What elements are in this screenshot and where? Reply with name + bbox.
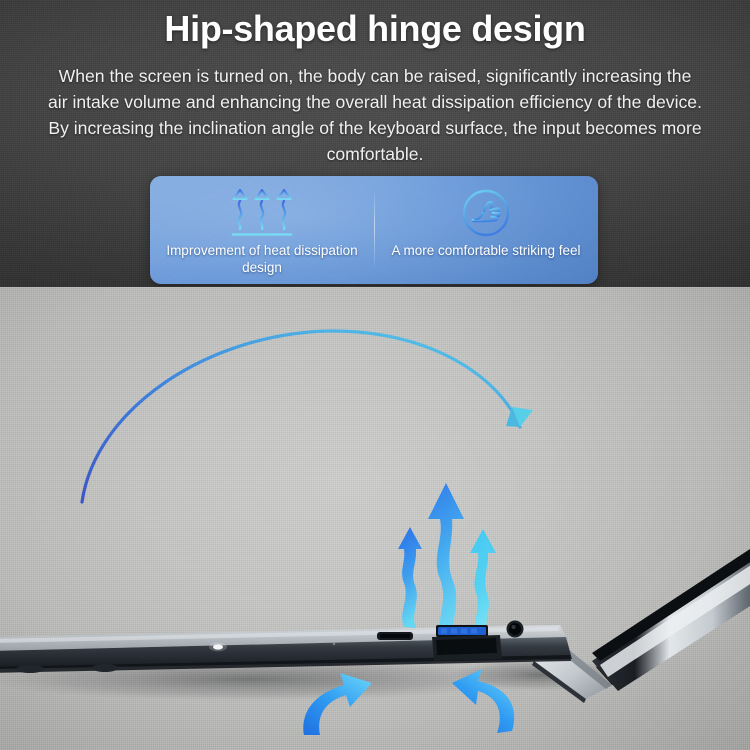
product-photo-illustration	[0, 287, 750, 750]
micro-hdmi-port	[377, 632, 413, 640]
hinge-arc-arrow	[82, 331, 533, 502]
usb-3-port	[436, 625, 488, 637]
header-panel: Hip-shaped hinge design When the screen …	[0, 0, 750, 287]
feature-item-heat-dissipation: Improvement of heat dissipation design	[150, 176, 374, 284]
feature-label: A more comfortable striking feel	[382, 242, 590, 259]
product-photo	[0, 287, 750, 750]
rubber-foot	[92, 664, 118, 672]
product-feature-page: Hip-shaped hinge design When the screen …	[0, 0, 750, 750]
feature-label: Improvement of heat dissipation design	[158, 242, 366, 276]
feature-item-striking-feel: A more comfortable striking feel	[374, 176, 598, 284]
pinhole	[333, 643, 335, 645]
laptop-screen-lid	[592, 545, 750, 691]
rubber-foot	[16, 665, 44, 673]
description-text: When the screen is turned on, the body c…	[48, 63, 702, 167]
exhaust-heat-arrows	[398, 483, 496, 648]
feature-card: Improvement of heat dissipation design	[150, 176, 598, 284]
hand-comfort-icon	[374, 184, 598, 242]
audio-jack-port	[507, 621, 524, 638]
heat-waves-icon	[150, 184, 374, 242]
page-title: Hip-shaped hinge design	[0, 8, 750, 50]
